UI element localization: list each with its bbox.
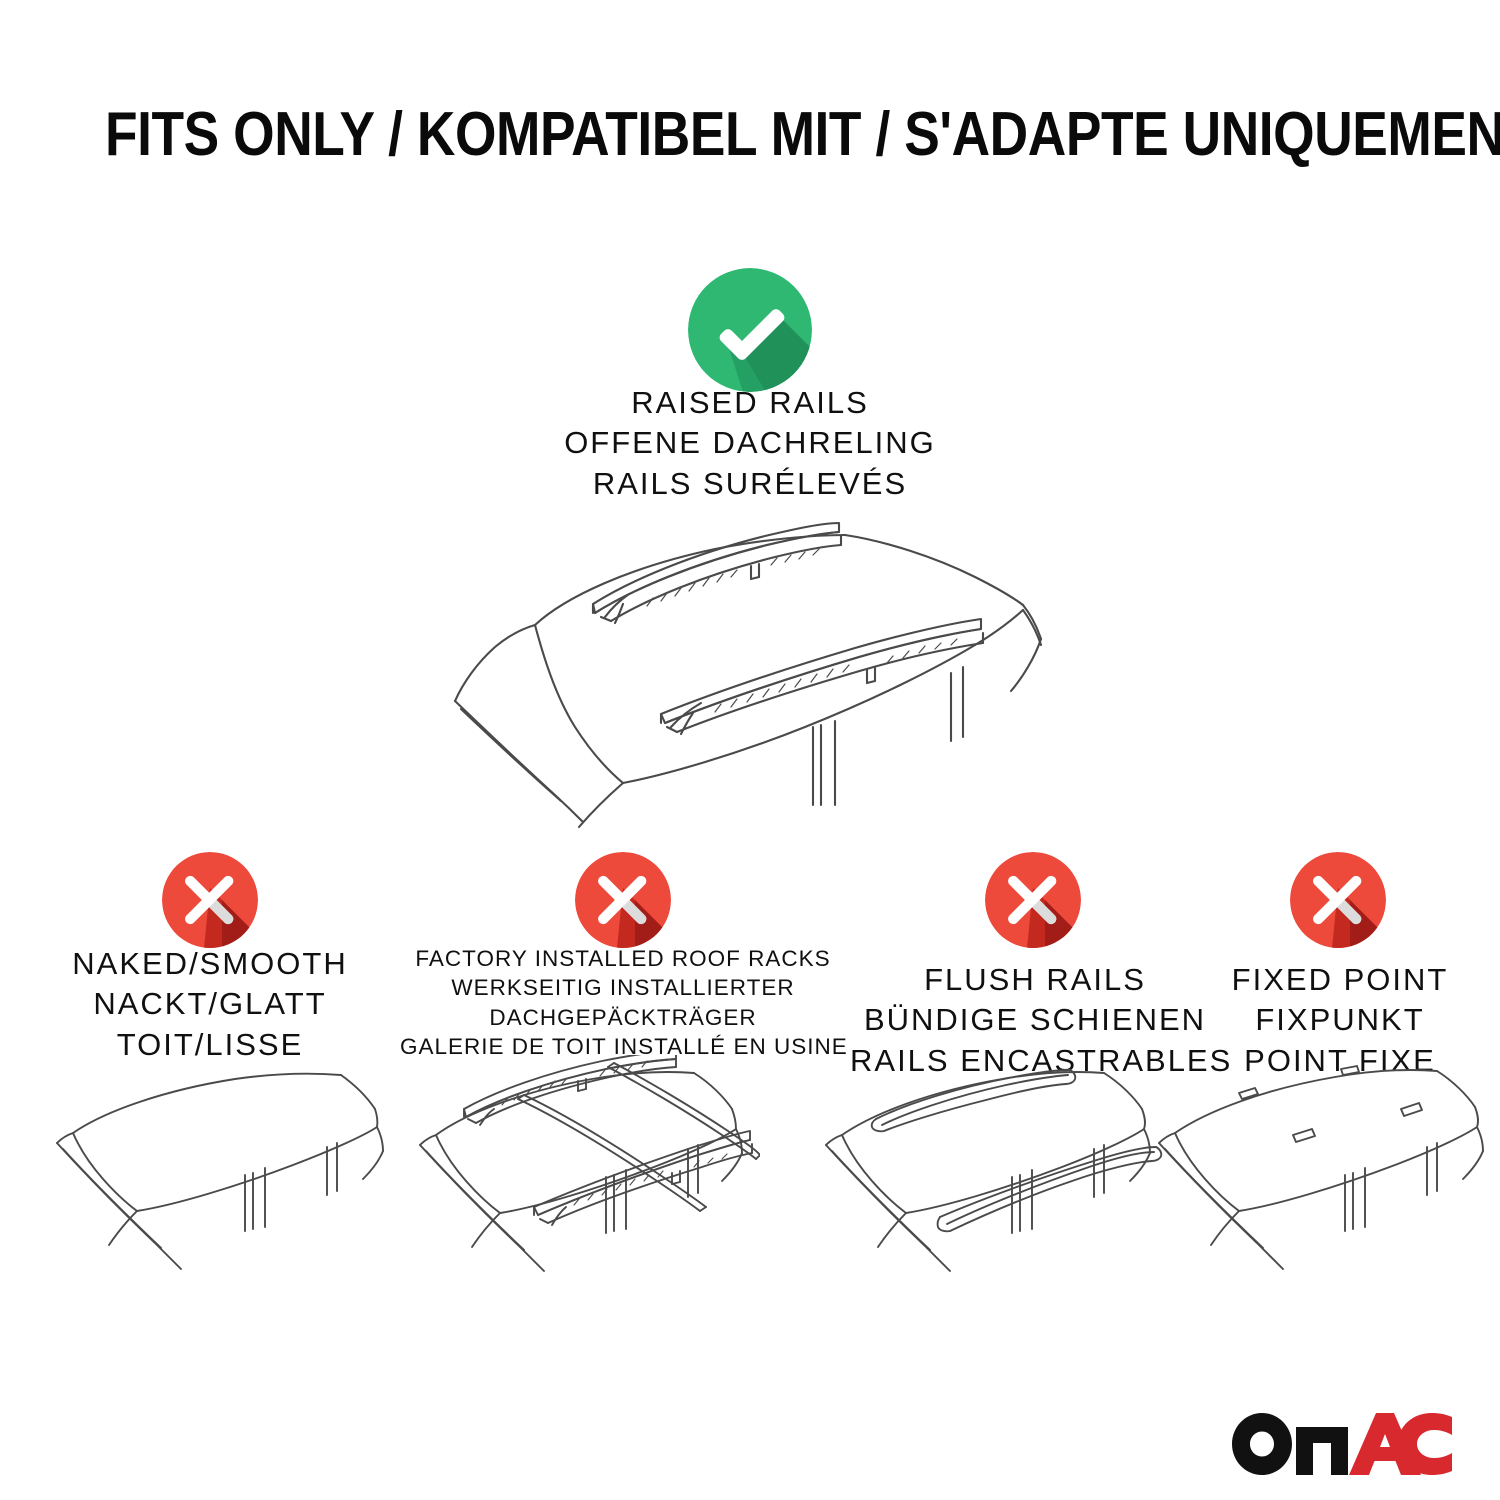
fixed-point-cap bbox=[1239, 1088, 1258, 1099]
fitment-infographic: FITS ONLY / KOMPATIBEL MIT / S'ADAPTE UN… bbox=[0, 0, 1500, 1500]
compatible-label-line: RAISED RAILS bbox=[0, 383, 1500, 423]
label-line: NACKT/GLATT bbox=[25, 984, 395, 1024]
omac-logo bbox=[1232, 1413, 1452, 1475]
check-circle-icon bbox=[688, 268, 812, 392]
cross-circle-icon bbox=[985, 852, 1081, 948]
label-line: WERKSEITIG INSTALLIERTER bbox=[400, 973, 846, 1002]
compatible-label-line: OFFENE DACHRELING bbox=[0, 423, 1500, 463]
logo-letter-o bbox=[1232, 1413, 1292, 1475]
label-line: FLUSH RAILS bbox=[850, 960, 1220, 1000]
page-title: FITS ONLY / KOMPATIBEL MIT / S'ADAPTE UN… bbox=[105, 104, 1395, 166]
cross-circle-icon bbox=[575, 852, 671, 948]
car-roof-flush-rails-illustration bbox=[820, 1055, 1170, 1290]
car-roof-raised-rails-illustration bbox=[415, 505, 1055, 830]
label-line: FACTORY INSTALLED ROOF RACKS bbox=[400, 944, 846, 973]
label-line: BÜNDIGE SCHIENEN bbox=[850, 1000, 1220, 1040]
logo-letter-m bbox=[1296, 1427, 1348, 1475]
label-line: DACHGEPÄCKTRÄGER bbox=[400, 1003, 846, 1032]
fixed-point-cap bbox=[1401, 1103, 1422, 1116]
label-line: NAKED/SMOOTH bbox=[25, 944, 395, 984]
label-line: FIXPUNKT bbox=[1190, 1000, 1490, 1040]
car-roof-fixed-point-illustration bbox=[1155, 1055, 1500, 1290]
car-roof-naked-smooth-illustration bbox=[55, 1055, 400, 1290]
label-line: FIXED POINT bbox=[1190, 960, 1490, 1000]
fixed-point-cap bbox=[1293, 1129, 1315, 1142]
compatible-label-block: RAISED RAILS OFFENE DACHRELING RAILS SUR… bbox=[0, 383, 1500, 504]
label-block-naked-smooth: NAKED/SMOOTH NACKT/GLATT TOIT/LISSE bbox=[25, 944, 395, 1065]
cross-circle-icon bbox=[1290, 852, 1386, 948]
compatible-label-line: RAILS SURÉLEVÉS bbox=[0, 464, 1500, 504]
car-roof-factory-roof-racks-illustration bbox=[410, 1055, 760, 1290]
label-block-factory-roof-racks: FACTORY INSTALLED ROOF RACKS WERKSEITIG … bbox=[400, 944, 846, 1061]
cross-circle-icon bbox=[162, 852, 258, 948]
